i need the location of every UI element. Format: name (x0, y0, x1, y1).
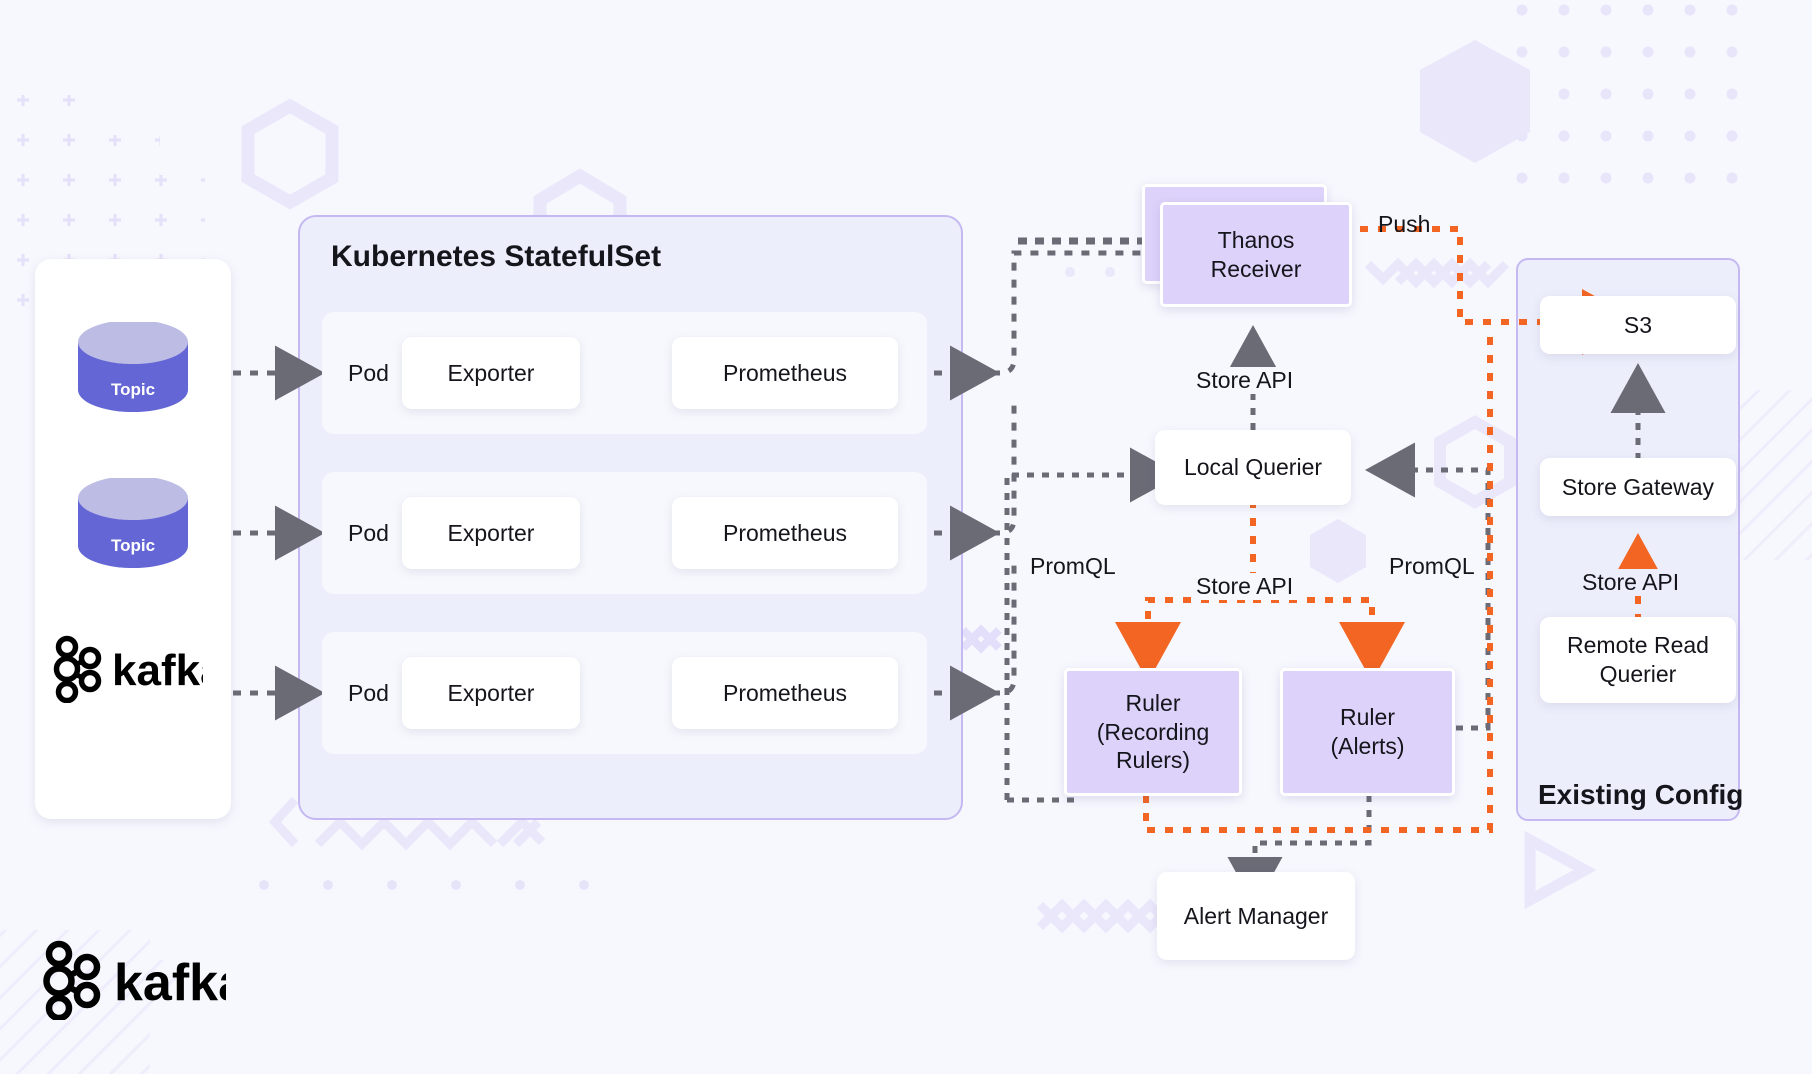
store-gateway-box[interactable]: Store Gateway (1540, 458, 1736, 516)
ruler-recording-box[interactable]: Ruler (Recording Rulers) (1064, 668, 1242, 796)
kafka-topic-label-1: Topic (78, 378, 188, 402)
thanos-receiver-label-line2: Receiver (1211, 255, 1302, 284)
pod-label-3: Pod (348, 680, 389, 707)
pod-label-1: Pod (348, 360, 389, 387)
ruler-alerts-label-line1: Ruler (1340, 703, 1395, 732)
ruler-alerts-box[interactable]: Ruler (Alerts) (1280, 668, 1455, 796)
ruler-recording-label-line2: (Recording (1097, 718, 1210, 747)
pod-label-2: Pod (348, 520, 389, 547)
kafka-topic-label-2: Topic (78, 534, 188, 558)
alert-manager-box[interactable]: Alert Manager (1157, 872, 1355, 960)
thanos-receiver-box[interactable]: Thanos Receiver (1160, 202, 1352, 307)
ruler-recording-label-line3: Rulers) (1116, 746, 1190, 775)
edge-label-promql-left: PromQL (1026, 553, 1120, 580)
edge-label-promql-right: PromQL (1385, 553, 1479, 580)
diagram-canvas: Topic Topic kafka kafka Kubernetes State… (0, 0, 1812, 1074)
prometheus-box-3[interactable]: Prometheus (672, 657, 898, 729)
remote-read-querier-label-line2: Querier (1600, 660, 1677, 689)
thanos-receiver-label-line1: Thanos (1218, 226, 1295, 255)
remote-read-querier-box[interactable]: Remote Read Querier (1540, 617, 1736, 703)
local-querier-box[interactable]: Local Querier (1155, 430, 1351, 505)
s3-box[interactable]: S3 (1540, 296, 1736, 354)
prometheus-box-1[interactable]: Prometheus (672, 337, 898, 409)
edge-label-store-api-receiver: Store API (1192, 367, 1297, 394)
edge-label-store-api-gateway: Store API (1578, 569, 1683, 596)
edge-label-push: Push (1378, 211, 1430, 238)
exporter-box-2[interactable]: Exporter (402, 497, 580, 569)
existing-config-title: Existing Config (1538, 779, 1743, 811)
statefulset-title: Kubernetes StatefulSet (331, 240, 661, 274)
exporter-box-1[interactable]: Exporter (402, 337, 580, 409)
exporter-box-3[interactable]: Exporter (402, 657, 580, 729)
edge-label-store-api-rulers: Store API (1192, 573, 1297, 600)
ruler-recording-label-line1: Ruler (1126, 689, 1181, 718)
prometheus-box-2[interactable]: Prometheus (672, 497, 898, 569)
ruler-alerts-label-line2: (Alerts) (1330, 732, 1404, 761)
remote-read-querier-label-line1: Remote Read (1567, 631, 1709, 660)
